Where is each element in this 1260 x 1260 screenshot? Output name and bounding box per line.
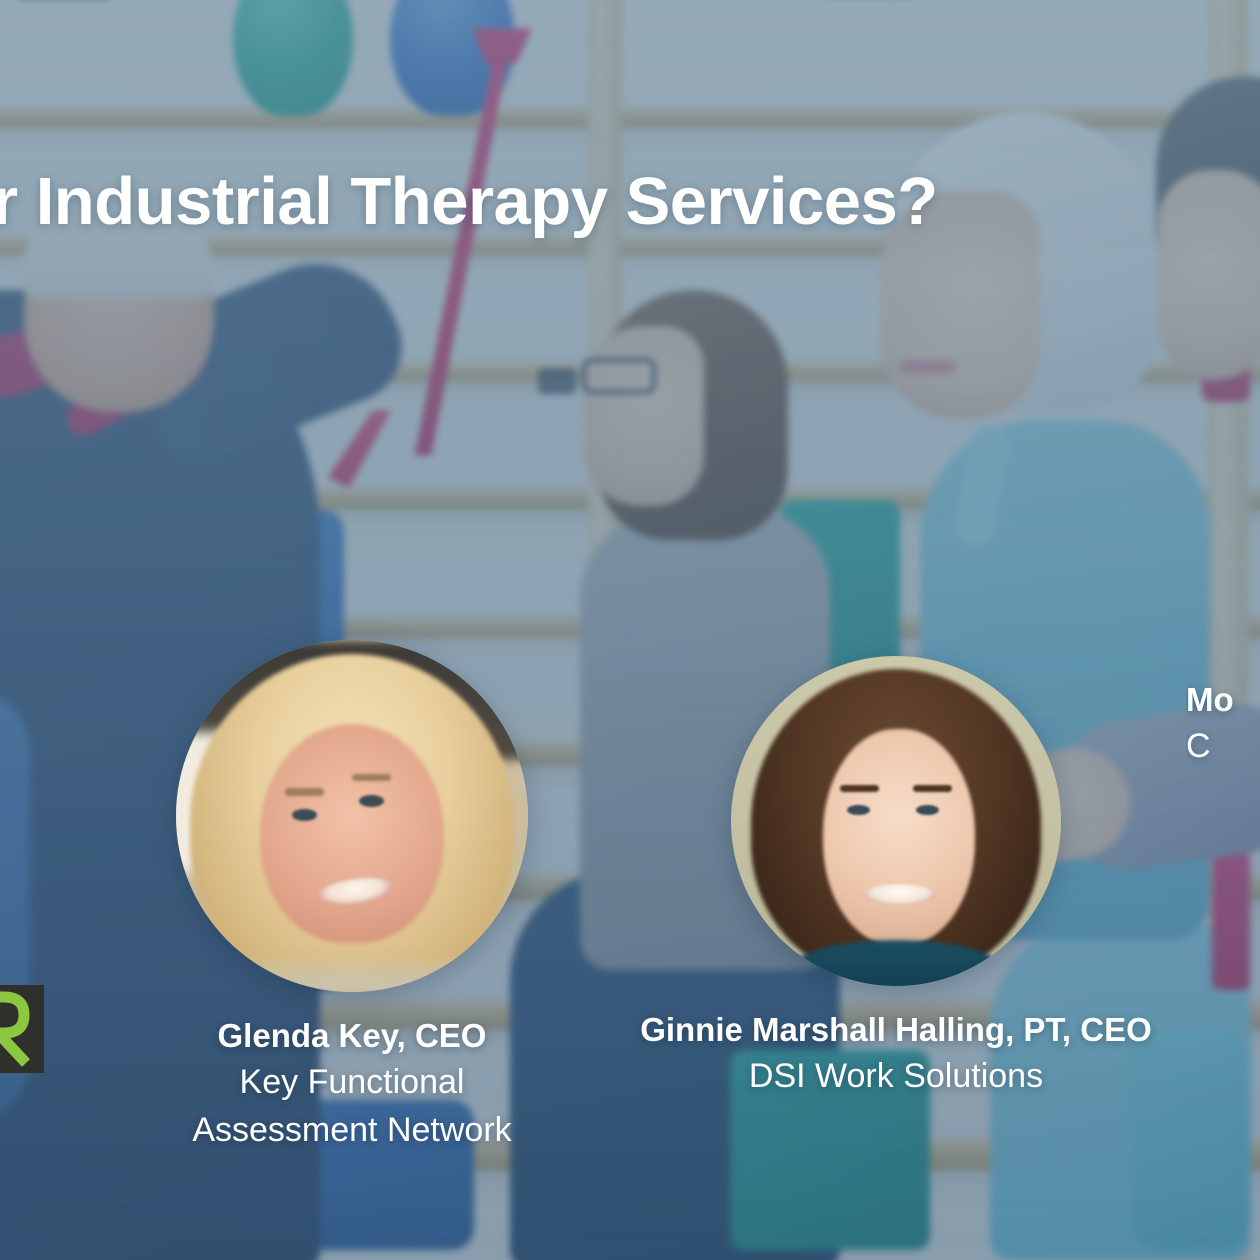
speaker-card-ginnie-marshall-halling: Ginnie Marshall Halling, PT, CEO DSI Wor…: [576, 656, 1216, 1098]
speaker-name: Ginnie Marshall Halling, PT, CEO: [576, 1010, 1216, 1050]
speaker-card-third-cropped: Mo C: [1186, 656, 1260, 768]
brand-logo: [0, 985, 44, 1073]
speaker-org-line-1: DSI Work Solutions: [576, 1054, 1216, 1098]
page-title: r Industrial Therapy Services?: [0, 166, 1112, 237]
speakers-row: Glenda Key, CEO Key Functional Assessmen…: [0, 640, 1260, 1200]
webinar-slide: r Industrial Therapy Services? Gle: [0, 0, 1260, 1260]
glenda-key-headshot: [176, 640, 528, 992]
speaker-org-line-1: Key Functional: [132, 1060, 572, 1104]
logo-r-mark: [0, 989, 44, 1069]
ginnie-marshall-halling-headshot: [731, 656, 1061, 986]
speaker-org-line-1: C: [1186, 724, 1260, 768]
speaker-card-glenda-key: Glenda Key, CEO Key Functional Assessmen…: [132, 640, 572, 1153]
speaker-name: Glenda Key, CEO: [132, 1016, 572, 1056]
speaker-org-line-2: Assessment Network: [132, 1108, 572, 1152]
speaker-name: Mo: [1186, 680, 1260, 720]
